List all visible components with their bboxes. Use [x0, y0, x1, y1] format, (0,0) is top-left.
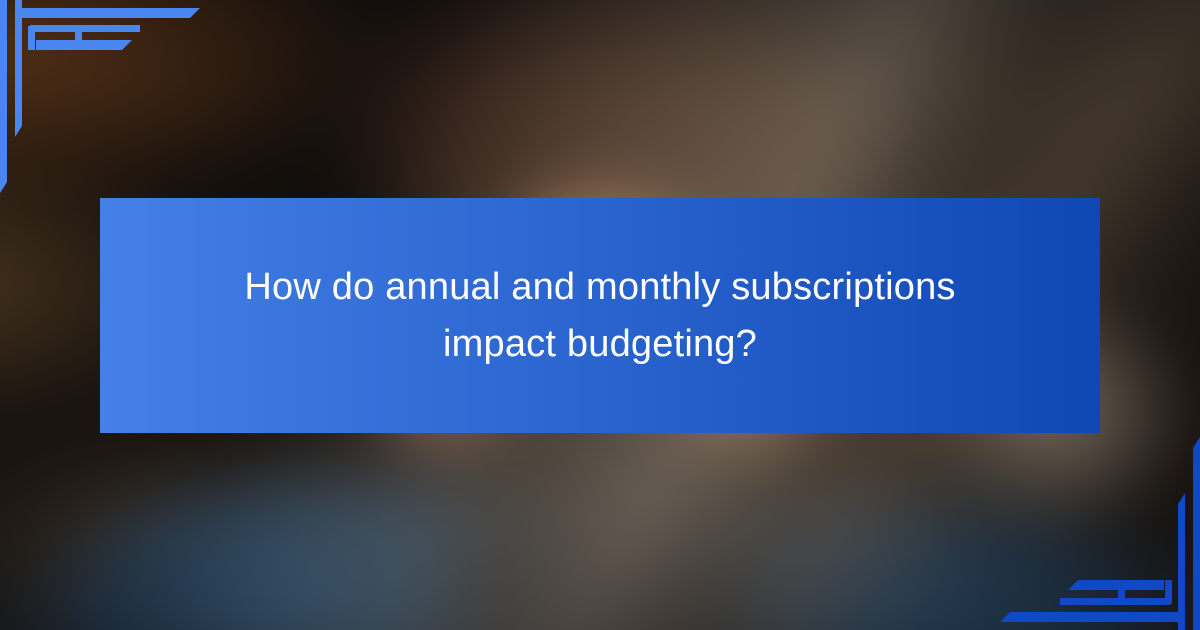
- headline-banner: How do annual and monthly subscriptions …: [100, 198, 1100, 433]
- headline-text: How do annual and monthly subscriptions …: [240, 259, 960, 371]
- social-card: How do annual and monthly subscriptions …: [0, 0, 1200, 630]
